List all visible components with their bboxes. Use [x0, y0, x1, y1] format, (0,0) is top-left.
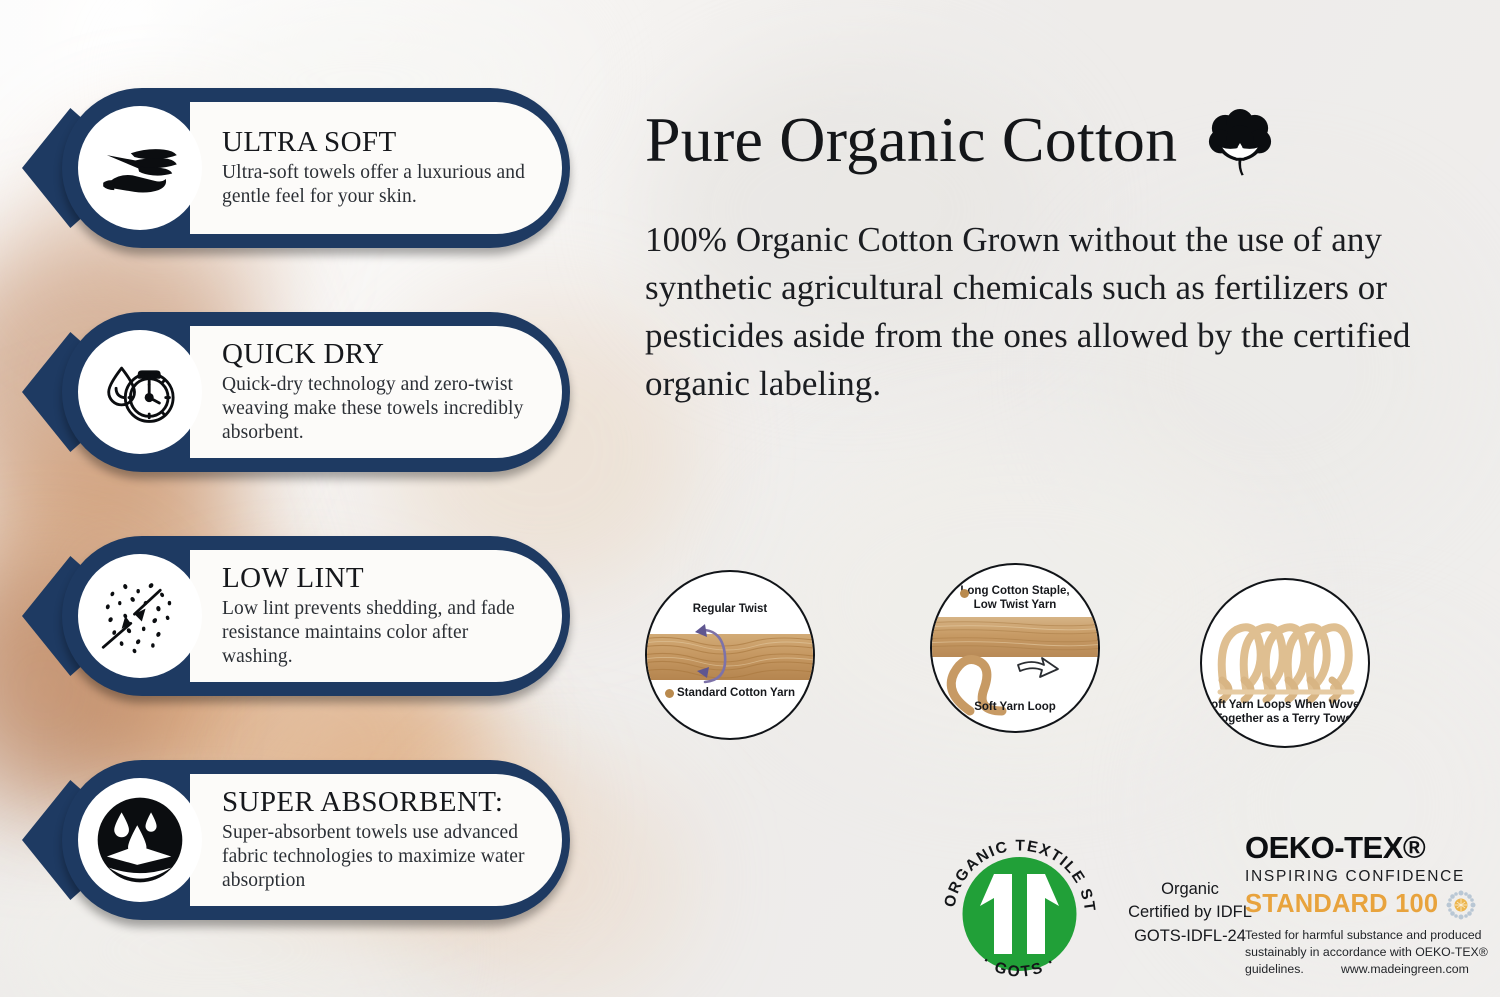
- oeko-tex-badge: OEKO-TEX® INSPIRING CONFIDENCE STANDARD …: [1245, 832, 1495, 979]
- oeko-tex-website: www.madeingreen.com: [1341, 961, 1469, 978]
- oeko-tex-flower-icon: [1446, 890, 1476, 920]
- feature-callout: QUICK DRY Quick-dry technology and zero-…: [190, 326, 562, 458]
- standard-twisted-yarn-icon: Regular Twist Standard Cotton Yarn: [645, 570, 815, 740]
- feather-on-hand-icon: [78, 106, 202, 230]
- feature-title: LOW LINT: [222, 563, 532, 594]
- yarn-caption-top: Regular Twist: [647, 602, 813, 616]
- feature-card-ultra-soft: ULTRA SOFT Ultra-soft towels offer a lux…: [22, 88, 570, 248]
- lint-particles-icon: [78, 554, 202, 678]
- yarn-caption-bottom: Soft Yarn Loop: [932, 700, 1098, 714]
- feature-card-list: ULTRA SOFT Ultra-soft towels offer a lux…: [0, 0, 600, 997]
- feature-card-low-lint: LOW LINT Low lint prevents shedding, and…: [22, 536, 570, 696]
- gots-certification-info: Organic Certified by IDFL GOTS-IDFL-24: [1115, 878, 1265, 948]
- feature-description: Super-absorbent towels use advanced fabr…: [222, 821, 532, 894]
- cotton-boll-icon: [1203, 106, 1277, 180]
- bullet-dot: [960, 589, 969, 598]
- feature-card-super-absorbent: SUPER ABSORBENT: Super-absorbent towels …: [22, 760, 570, 920]
- low-twist-yarn-loop-icon: Long Cotton Staple, Low Twist Yarn Soft …: [930, 563, 1100, 733]
- headline-row: Pure Organic Cotton: [645, 100, 1277, 180]
- caption-line: Together as a Terry Towel: [1202, 712, 1368, 726]
- body-paragraph: 100% Organic Cotton Grown without the us…: [645, 216, 1475, 408]
- caption-line: Long Cotton Staple,: [932, 584, 1098, 598]
- yarn-diagram-group: Regular Twist Standard Cotton Yarn: [600, 560, 1500, 760]
- page-title: Pure Organic Cotton: [645, 108, 1177, 172]
- water-absorption-icon: [78, 778, 202, 902]
- oeko-tex-fine-print: Tested for harmful substance and produce…: [1245, 927, 1497, 979]
- yarn-caption-bottom: Soft Yarn Loops When Woven Together as a…: [1202, 698, 1368, 726]
- oeko-tex-name: OEKO-TEX®: [1245, 832, 1495, 863]
- caption-line: Soft Yarn Loops When Woven: [1202, 698, 1368, 712]
- fine-print-line: guidelines.: [1245, 961, 1341, 978]
- feature-title: ULTRA SOFT: [222, 127, 532, 158]
- certification-row: GLOBAL ORGANIC TEXTILE STANDARD · GOTS ·…: [600, 820, 1500, 997]
- right-content-column: Pure Organic Cotton: [600, 0, 1500, 997]
- feature-callout: SUPER ABSORBENT: Super-absorbent towels …: [190, 774, 562, 906]
- caption-line: Low Twist Yarn: [932, 598, 1098, 612]
- infographic-stage: ULTRA SOFT Ultra-soft towels offer a lux…: [0, 0, 1500, 997]
- fine-print-line: sustainably in accordance with OEKO-TEX®: [1245, 944, 1497, 961]
- feature-title: QUICK DRY: [222, 339, 532, 370]
- yarn-caption-top: Long Cotton Staple, Low Twist Yarn: [932, 584, 1098, 612]
- gots-info-line: Organic: [1115, 878, 1265, 901]
- feature-description: Ultra-soft towels offer a luxurious and …: [222, 161, 532, 209]
- feature-title: SUPER ABSORBENT:: [222, 787, 532, 818]
- gots-info-line: Certified by IDFL: [1115, 901, 1265, 924]
- feature-description: Low lint prevents shedding, and fade res…: [222, 597, 532, 670]
- bullet-dot: [665, 689, 674, 698]
- oeko-tex-standard: STANDARD 100: [1245, 892, 1438, 918]
- feature-callout: LOW LINT Low lint prevents shedding, and…: [190, 550, 562, 682]
- feature-callout: ULTRA SOFT Ultra-soft towels offer a lux…: [190, 102, 562, 234]
- fine-print-line: Tested for harmful substance and produce…: [1245, 927, 1497, 944]
- gots-info-line: GOTS-IDFL-24: [1115, 925, 1265, 948]
- terry-towel-loops-icon: Soft Yarn Loops When Woven Together as a…: [1200, 578, 1370, 748]
- feature-description: Quick-dry technology and zero-twist weav…: [222, 373, 532, 446]
- droplet-stopwatch-icon: [78, 330, 202, 454]
- gots-logo-icon: GLOBAL ORGANIC TEXTILE STANDARD · GOTS ·: [932, 824, 1107, 997]
- oeko-tex-tagline: INSPIRING CONFIDENCE: [1245, 869, 1495, 885]
- feature-card-quick-dry: QUICK DRY Quick-dry technology and zero-…: [22, 312, 570, 472]
